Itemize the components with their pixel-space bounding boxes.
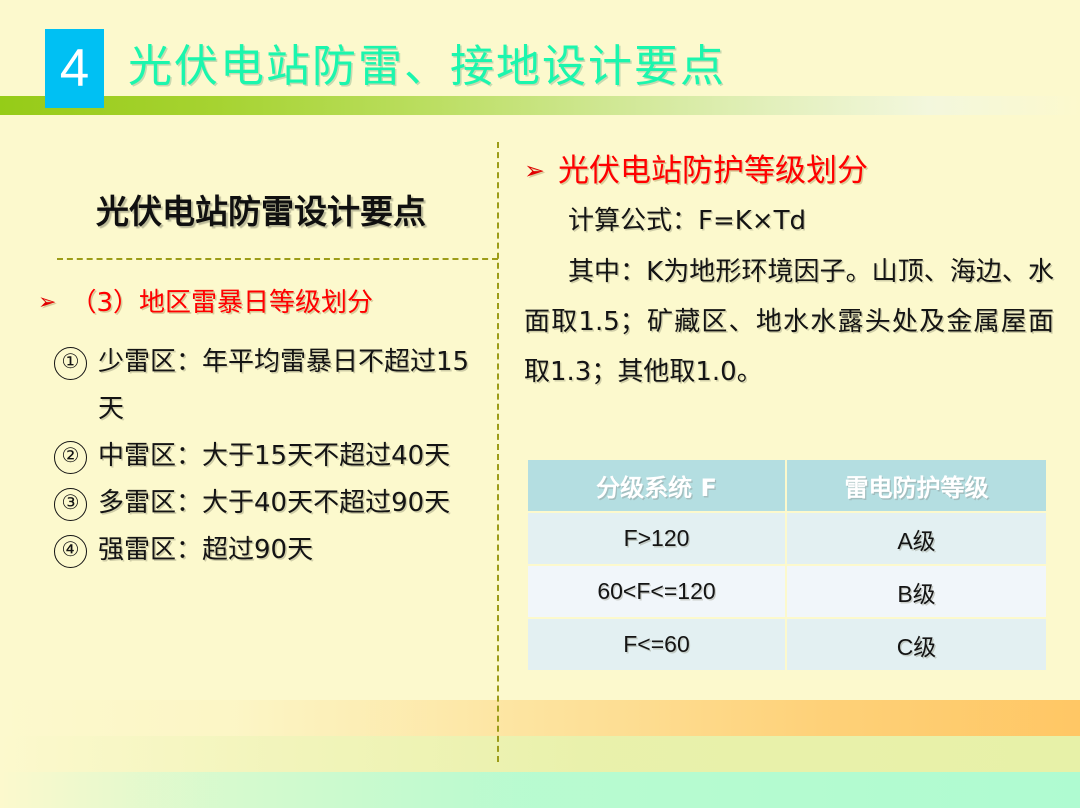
table-header-row: 分级系统 F 雷电防护等级 xyxy=(528,460,1046,513)
decor-band-lime xyxy=(0,736,1080,772)
left-column: 光伏电站防雷设计要点 ➢ （3）地区雷暴日等级划分 ① 少雷区：年平均雷暴日不超… xyxy=(36,150,486,574)
left-bullet-heading-label: （3）地区雷暴日等级划分 xyxy=(70,283,373,323)
arrow-bullet-icon: ➢ xyxy=(524,148,545,194)
list-item-label: 多雷区：大于40天不超过90天 xyxy=(98,480,486,527)
circled-number-icon: ① xyxy=(54,347,87,380)
table-row: F>120 A级 xyxy=(528,513,1046,566)
list-item: ③ 多雷区：大于40天不超过90天 xyxy=(54,480,486,527)
decor-band-orange xyxy=(0,700,1080,736)
list-item-label: 中雷区：大于15天不超过40天 xyxy=(98,433,486,480)
table-cell-f-range: F<=60 xyxy=(528,619,787,670)
circled-number-icon: ② xyxy=(54,441,87,474)
slide-root: 4 光伏电站防雷、接地设计要点 光伏电站防雷设计要点 ➢ （3）地区雷暴日等级划… xyxy=(0,0,1080,808)
list-item-label: 强雷区：超过90天 xyxy=(98,527,486,574)
table-column-header-f: 分级系统 F xyxy=(528,460,787,513)
table-cell-f-range: 60<F<=120 xyxy=(528,566,787,619)
list-item: ④ 强雷区：超过90天 xyxy=(54,527,486,574)
table-row: F<=60 C级 xyxy=(528,619,1046,670)
circled-number-icon: ④ xyxy=(54,535,87,568)
table-row: 60<F<=120 B级 xyxy=(528,566,1046,619)
right-column: ➢ 光伏电站防护等级划分 计算公式：F=K×Td 其中：K为地形环境因子。山顶、… xyxy=(524,148,1054,397)
left-column-body: ➢ （3）地区雷暴日等级划分 ① 少雷区：年平均雷暴日不超过15天 ② 中雷区：… xyxy=(36,283,486,574)
decor-band-mint xyxy=(0,772,1080,808)
right-column-heading-label: 光伏电站防护等级划分 xyxy=(558,148,868,194)
list-item-label: 少雷区：年平均雷暴日不超过15天 xyxy=(98,339,486,433)
formula-line: 计算公式：F=K×Td xyxy=(524,198,1054,245)
explanation-paragraph: 其中：K为地形环境因子。山顶、海边、水面取1.5；矿藏区、地水水露头处及金属屋面… xyxy=(524,247,1054,397)
page-title: 光伏电站防雷、接地设计要点 xyxy=(128,36,726,98)
table-column-header-grade: 雷电防护等级 xyxy=(787,460,1046,513)
table-cell-grade: B级 xyxy=(787,566,1046,619)
left-bullet-heading: ➢ （3）地区雷暴日等级划分 xyxy=(36,283,486,323)
header-green-rule xyxy=(0,96,1080,115)
left-column-title: 光伏电站防雷设计要点 xyxy=(36,188,486,236)
right-column-heading: ➢ 光伏电站防护等级划分 xyxy=(524,148,1054,194)
slide-header: 4 光伏电站防雷、接地设计要点 xyxy=(0,0,1080,130)
table-cell-grade: C级 xyxy=(787,619,1046,670)
section-number-badge: 4 xyxy=(45,29,104,108)
protection-grade-table: 分级系统 F 雷电防护等级 F>120 A级 60<F<=120 B级 F<=6… xyxy=(528,460,1046,670)
list-item: ① 少雷区：年平均雷暴日不超过15天 xyxy=(54,339,486,433)
arrow-bullet-icon: ➢ xyxy=(38,283,56,323)
circled-number-icon: ③ xyxy=(54,488,87,521)
left-numbered-list: ① 少雷区：年平均雷暴日不超过15天 ② 中雷区：大于15天不超过40天 ③ 多… xyxy=(36,339,486,574)
column-divider xyxy=(497,142,499,762)
list-item: ② 中雷区：大于15天不超过40天 xyxy=(54,433,486,480)
table-cell-grade: A级 xyxy=(787,513,1046,566)
table-cell-f-range: F>120 xyxy=(528,513,787,566)
